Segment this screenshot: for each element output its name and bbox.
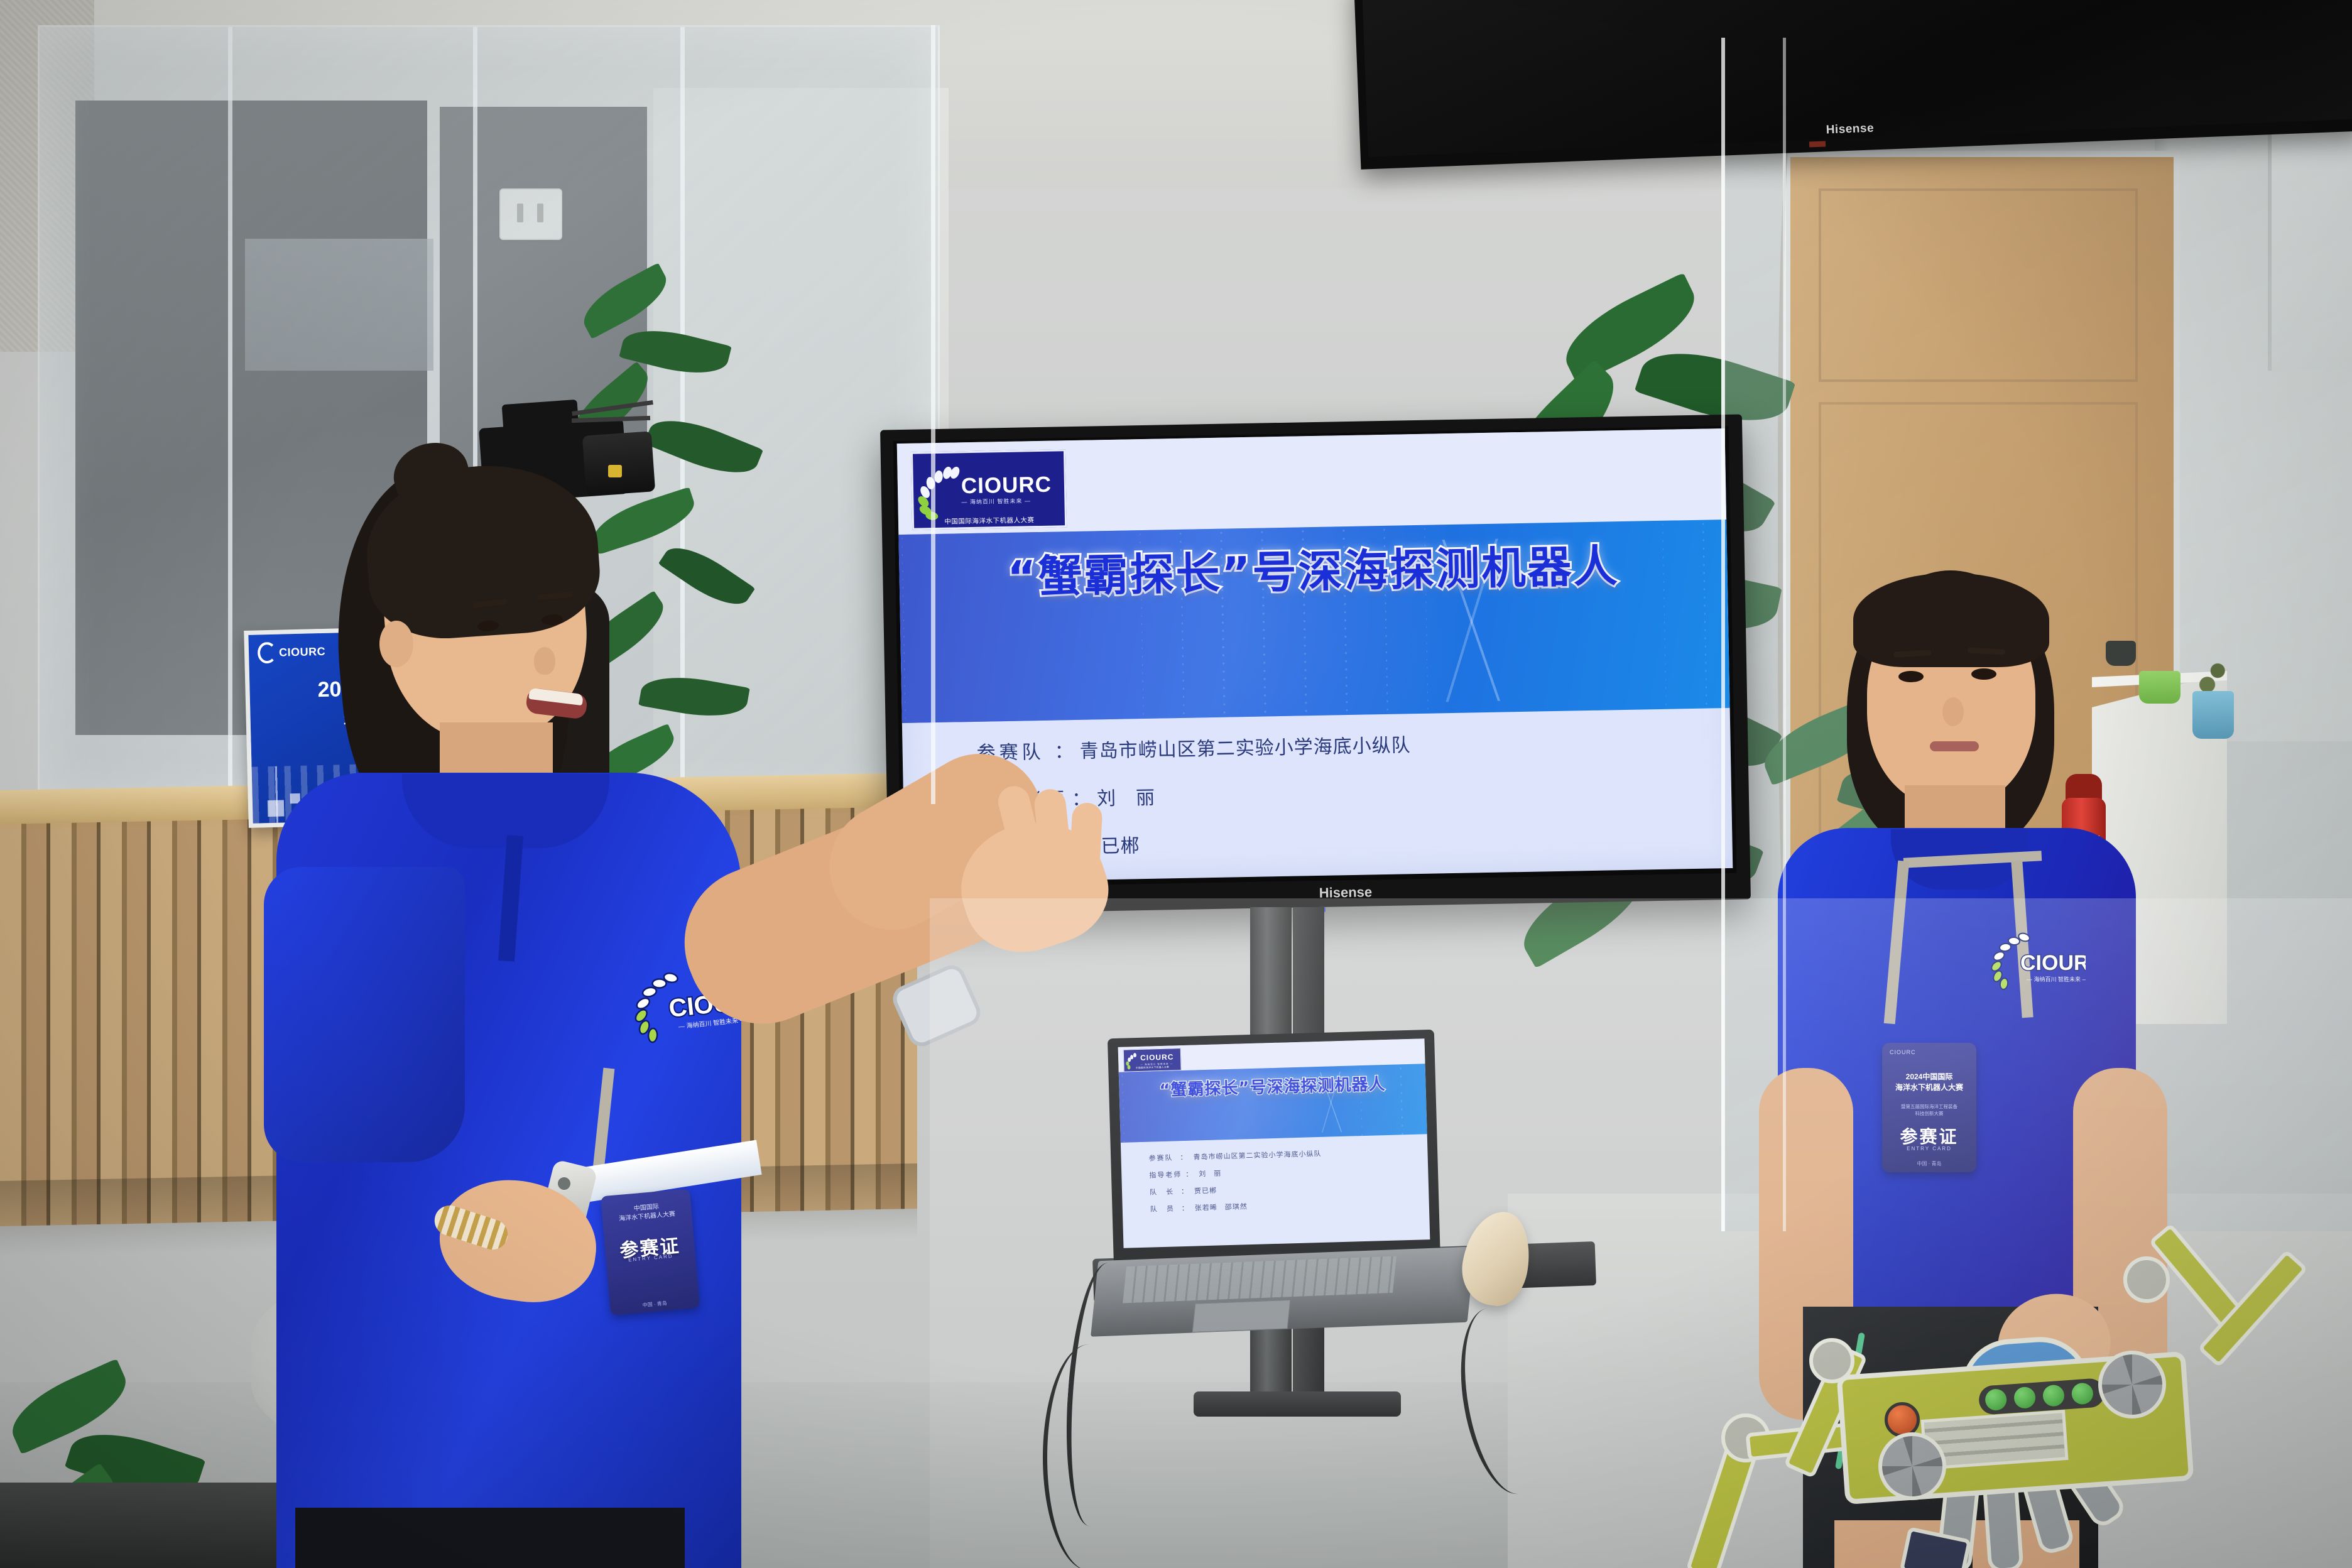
laptop-ciourc-footer: 中国国际海洋水下机器人大赛 [1124,1065,1181,1070]
camera-top-handle [502,400,579,432]
right-presenter-shirt-logo: CIOURC — 海纳百川 智胜未来 — [1985,930,2086,1011]
ciourc-tagline: — 海纳百川 智胜未来 — [961,498,1052,506]
top-tv-power-led [1809,141,1826,148]
glass-mullion-left [931,25,935,804]
laptop-row-team-label: 参赛队 [1148,1152,1176,1163]
right-badge-subtitle: 暨第五届国际海洋工程装备 科技创新大赛 [1882,1103,1976,1118]
robot-thruster-right [2098,1351,2166,1418]
laptop-row-members-value: 张若晞 邵琪然 [1195,1201,1248,1212]
photo-scene: Hisense CIOURC 2024 中国国际 2024 CHINA INTE… [0,0,2352,1568]
green-flower-pot [2139,671,2180,704]
left-presenter-badge: 中国国际 海洋水下机器人大赛 参赛证 ENTRY CARD 中国 · 青岛 [601,1189,700,1315]
svg-text:CIOURC: CIOURC [2020,951,2086,975]
left-presenter-skirt [295,1508,685,1568]
ciourc-wordmark-block: CIOURC — 海纳百川 智胜未来 — [961,474,1052,506]
right-badge-footer: 中国 · 青岛 [1882,1160,1976,1167]
left-presenter-ear [379,621,413,667]
right-badge-main-text: 参赛证 [1882,1123,1976,1148]
svg-text:— 海纳百川 智胜未来 —: — 海纳百川 智胜未来 — [2027,976,2086,983]
laptop-row-teacher-value: 刘 丽 [1199,1168,1221,1179]
poster-logo-swirl-icon [258,642,277,664]
power-cable-2 [1043,1344,1135,1568]
blue-flower-pot [2192,691,2234,739]
laptop-row-captain-label: 队 长 [1150,1186,1177,1197]
slide-row-team-value: 青岛市崂山区第二实验小学海底小纵队 [1079,729,1411,763]
right-presenter-fringe [1853,573,2049,667]
laptop-ciourc-wordmark: CIOURC [1140,1053,1174,1062]
right-presenter-eye-left [1898,671,1924,682]
laptop-row-teacher-label: 指导老师 [1149,1169,1182,1180]
ciourc-swirl-icon [918,465,960,516]
laptop-row-members-label: 队 员 [1150,1203,1178,1214]
poster-logo-text: CIOURC [279,645,325,659]
top-tv-brand-label: Hisense [1816,121,1885,140]
right-badge-title: 2024中国国际 海洋水下机器人大赛 [1882,1072,1976,1093]
robot-thruster-left [1878,1432,1946,1500]
laptop-screen[interactable]: CIOURC — 海纳百川 智胜未来 — 中国国际海洋水下机器人大赛 “蟹霸探长… [1118,1038,1430,1248]
slide-row-team: 参赛队 ： 青岛市崂山区第二实验小学海底小纵队 [976,724,1706,765]
glass-mullion-right-1 [1721,38,1725,1231]
camera-tally-light [608,465,622,477]
slide-row-team-colon: ： [1054,736,1074,764]
ciourc-footer-text: 中国国际海洋水下机器人大赛 [914,514,1065,526]
tv-brand-label: Hisense [1295,884,1396,905]
left-presenter-nose [534,647,555,675]
ciourc-wordmark: CIOURC [961,474,1052,498]
right-badge-english: ENTRY CARD [1882,1146,1976,1151]
slide-row-teacher-value: 刘 丽 [1097,782,1156,811]
laptop-row-captain-value: 贾已郴 [1194,1185,1217,1196]
right-presenter-nose [1942,697,1964,726]
left-badge-header: 中国国际 海洋水下机器人大赛 [602,1200,692,1224]
laptop-trackpad[interactable] [1192,1300,1291,1332]
right-badge-logo: CIOURC [1890,1049,1916,1055]
tv-stand-base [1194,1391,1401,1417]
right-presenter-mouth [1930,741,1979,751]
laptop-row-team-value: 青岛市崂山区第二实验小学海底小纵队 [1193,1148,1321,1162]
right-presenter-eye-right [1971,668,1996,680]
camera-lens [582,431,655,496]
left-presenter-sleeve [264,867,465,1162]
right-presenter-badge: CIOURC 2024中国国际 海洋水下机器人大赛 暨第五届国际海洋工程装备 科… [1882,1043,1976,1172]
poster-logo: CIOURC [258,641,326,664]
robot-joint-right [2123,1256,2170,1303]
glass-mullion-right-2 [1783,38,1786,1231]
small-dark-pot [2106,641,2136,666]
